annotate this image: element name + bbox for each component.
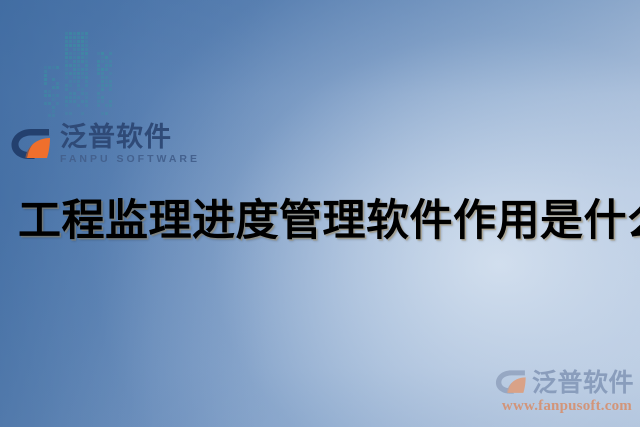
logo-chinese-name: 泛普软件 <box>60 124 200 151</box>
skyline-column <box>44 66 60 118</box>
pixel-skyline-graphic <box>44 32 120 118</box>
banner-image: 泛普软件 FANPU SOFTWARE 工程监理进度管理软件作用是什么 泛普软件… <box>0 0 640 427</box>
watermark-fanpu-swoosh-icon <box>494 368 528 396</box>
watermark-logo-row: 泛普软件 <box>494 368 634 396</box>
logo-english-name: FANPU SOFTWARE <box>60 154 200 165</box>
skyline-column <box>97 52 116 118</box>
watermark-chinese-name: 泛普软件 <box>532 370 634 395</box>
fanpu-logo-wordmark: 泛普软件 FANPU SOFTWARE <box>60 124 200 165</box>
page-title: 工程监理进度管理软件作用是什么 <box>18 197 632 246</box>
skyline-column <box>65 32 92 118</box>
watermark-url: www.fanpusoft.com <box>494 398 632 415</box>
watermark: 泛普软件 www.fanpusoft.com <box>494 368 634 415</box>
fanpu-logo: 泛普软件 FANPU SOFTWARE <box>9 124 200 165</box>
fanpu-swoosh-icon <box>9 126 53 162</box>
